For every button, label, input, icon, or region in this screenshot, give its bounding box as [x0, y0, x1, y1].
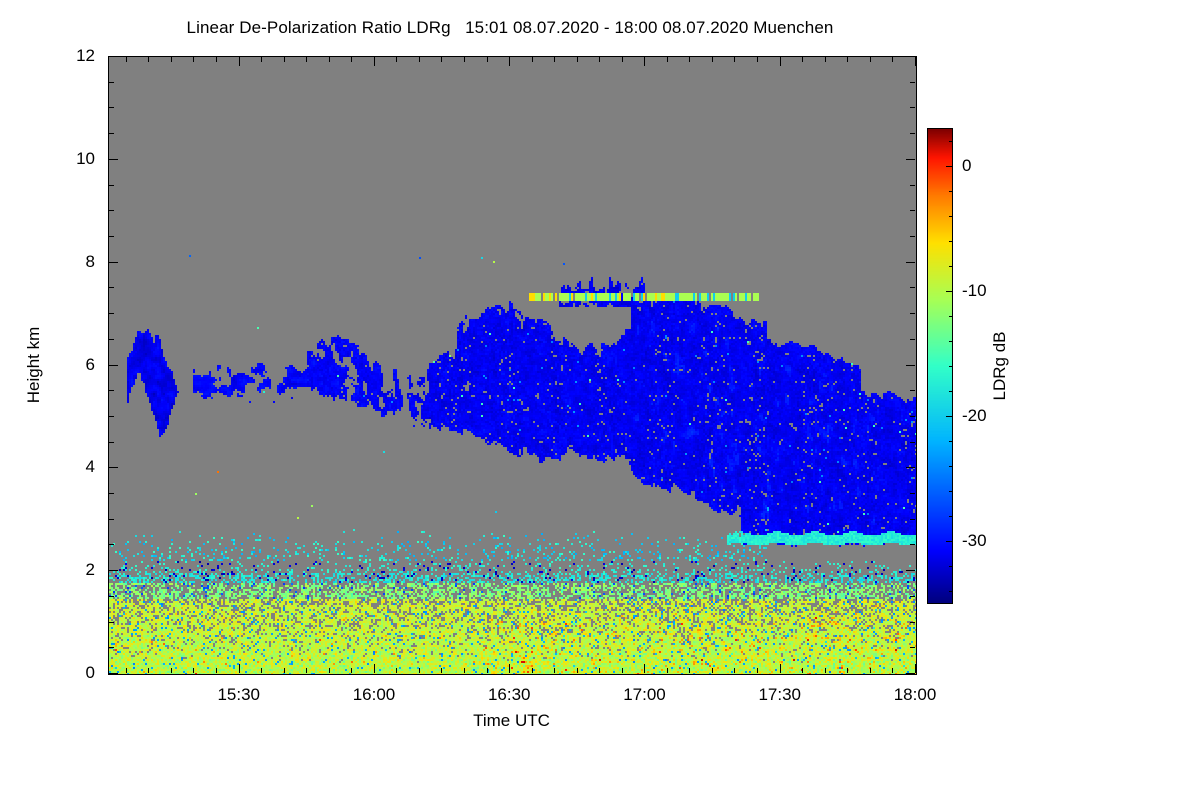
y-tick-major-right — [906, 570, 915, 571]
x-tick-minor — [667, 668, 668, 673]
y-tick-minor-right — [910, 287, 915, 288]
y-tick-minor — [109, 133, 114, 134]
x-tick-minor — [712, 668, 713, 673]
colorbar-tick-minor — [949, 266, 953, 267]
x-tick-major-top — [915, 57, 916, 66]
x-tick-label: 16:30 — [488, 685, 531, 705]
x-tick-minor — [396, 668, 397, 673]
x-tick-minor-top — [171, 57, 172, 62]
x-tick-minor-top — [532, 57, 533, 62]
colorbar-tick-minor — [949, 141, 953, 142]
x-tick-minor — [216, 668, 217, 673]
y-tick-minor — [109, 544, 114, 545]
colorbar-tick-minor — [949, 341, 953, 342]
x-tick-minor — [261, 668, 262, 673]
x-tick-minor-top — [870, 57, 871, 62]
y-tick-major-right — [906, 467, 915, 468]
y-tick-major-right — [906, 56, 915, 57]
y-tick-minor — [109, 339, 114, 340]
colorbar-tick-minor — [949, 391, 953, 392]
x-tick-minor-top — [802, 57, 803, 62]
x-tick-minor-top — [261, 57, 262, 62]
y-tick-minor-right — [910, 107, 915, 108]
x-tick-minor — [126, 668, 127, 673]
x-tick-minor-top — [351, 57, 352, 62]
y-tick-minor-right — [910, 313, 915, 314]
x-tick-major — [644, 664, 645, 673]
x-tick-minor-top — [126, 57, 127, 62]
y-tick-minor — [109, 313, 114, 314]
x-tick-major — [780, 664, 781, 673]
y-tick-minor — [109, 519, 114, 520]
y-tick-major-right — [906, 159, 915, 160]
y-tick-minor-right — [910, 442, 915, 443]
y-tick-minor — [109, 82, 114, 83]
x-tick-minor-top — [667, 57, 668, 62]
x-tick-minor — [329, 668, 330, 673]
y-tick-major-right — [906, 673, 915, 674]
colorbar-tick-label: -20 — [962, 406, 987, 426]
y-tick-minor-right — [910, 647, 915, 648]
colorbar-tick-minor — [949, 491, 953, 492]
colorbar-tick-label: -30 — [962, 531, 987, 551]
x-tick-label: 17:00 — [623, 685, 666, 705]
x-tick-minor — [599, 668, 600, 673]
x-tick-minor — [148, 668, 149, 673]
colorbar-tick-major — [946, 416, 953, 417]
colorbar-tick-minor — [949, 591, 953, 592]
x-tick-minor — [870, 668, 871, 673]
x-tick-major-top — [780, 57, 781, 66]
x-tick-minor — [802, 668, 803, 673]
x-tick-minor-top — [689, 57, 690, 62]
y-tick-minor-right — [910, 210, 915, 211]
x-tick-minor-top — [419, 57, 420, 62]
y-tick-minor — [109, 236, 114, 237]
colorbar-tick-label: -10 — [962, 281, 987, 301]
y-tick-minor — [109, 287, 114, 288]
x-tick-minor-top — [712, 57, 713, 62]
x-tick-minor — [419, 668, 420, 673]
colorbar-tick-minor — [949, 366, 953, 367]
x-tick-minor — [734, 668, 735, 673]
ldr-heatmap — [109, 57, 916, 674]
x-tick-minor — [464, 668, 465, 673]
x-axis-title: Time UTC — [108, 711, 915, 731]
y-tick-major — [109, 570, 118, 571]
y-tick-minor-right — [910, 622, 915, 623]
x-tick-minor — [825, 668, 826, 673]
x-tick-minor-top — [487, 57, 488, 62]
x-tick-label: 18:00 — [894, 685, 937, 705]
y-tick-minor-right — [910, 185, 915, 186]
y-tick-minor — [109, 442, 114, 443]
x-tick-minor — [171, 668, 172, 673]
y-tick-minor — [109, 493, 114, 494]
x-tick-label: 16:00 — [353, 685, 396, 705]
y-tick-minor-right — [910, 544, 915, 545]
y-tick-minor — [109, 622, 114, 623]
x-tick-minor — [689, 668, 690, 673]
colorbar-tick-label: 0 — [962, 156, 971, 176]
colorbar-tick-minor — [949, 466, 953, 467]
x-tick-minor-top — [825, 57, 826, 62]
x-tick-minor-top — [306, 57, 307, 62]
x-tick-minor — [306, 668, 307, 673]
x-tick-minor-top — [734, 57, 735, 62]
x-tick-minor-top — [441, 57, 442, 62]
y-tick-minor — [109, 107, 114, 108]
x-tick-major-top — [374, 57, 375, 66]
x-tick-minor — [193, 668, 194, 673]
x-tick-major-top — [644, 57, 645, 66]
x-tick-minor-top — [193, 57, 194, 62]
y-tick-major — [109, 365, 118, 366]
x-tick-minor-top — [554, 57, 555, 62]
y-tick-minor — [109, 596, 114, 597]
y-tick-major — [109, 467, 118, 468]
x-tick-minor — [441, 668, 442, 673]
y-tick-major-right — [906, 365, 915, 366]
x-tick-major — [374, 664, 375, 673]
y-tick-minor-right — [910, 82, 915, 83]
x-tick-minor-top — [892, 57, 893, 62]
x-tick-minor — [892, 668, 893, 673]
y-tick-minor-right — [910, 519, 915, 520]
radar-plot-area[interactable] — [108, 56, 917, 675]
y-tick-label: 2 — [50, 560, 95, 580]
y-tick-minor — [109, 416, 114, 417]
chart-title: Linear De-Polarization Ratio LDRg 15:01 … — [0, 18, 1020, 38]
x-tick-minor-top — [757, 57, 758, 62]
colorbar-tick-minor — [949, 566, 953, 567]
y-tick-major — [109, 673, 118, 674]
y-tick-major — [109, 262, 118, 263]
x-tick-minor-top — [577, 57, 578, 62]
x-tick-minor — [757, 668, 758, 673]
x-tick-minor — [554, 668, 555, 673]
y-tick-label: 10 — [50, 149, 95, 169]
x-tick-minor — [622, 668, 623, 673]
colorbar-tick-major — [946, 541, 953, 542]
x-tick-minor-top — [329, 57, 330, 62]
colorbar-tick-minor — [949, 516, 953, 517]
x-tick-minor-top — [464, 57, 465, 62]
y-tick-minor-right — [910, 236, 915, 237]
x-tick-major — [915, 664, 916, 673]
x-tick-minor — [532, 668, 533, 673]
colorbar-tick-minor — [949, 316, 953, 317]
colorbar-tick-major — [946, 166, 953, 167]
figure-canvas: Linear De-Polarization Ratio LDRg 15:01 … — [0, 0, 1200, 800]
colorbar-tick-major — [946, 291, 953, 292]
x-tick-minor-top — [148, 57, 149, 62]
y-tick-major-right — [906, 262, 915, 263]
y-tick-label: 8 — [50, 252, 95, 272]
colorbar-tick-minor — [949, 191, 953, 192]
x-tick-major-top — [509, 57, 510, 66]
x-tick-label: 15:30 — [217, 685, 260, 705]
y-tick-minor-right — [910, 133, 915, 134]
y-tick-minor-right — [910, 390, 915, 391]
colorbar-tick-minor — [949, 216, 953, 217]
x-tick-minor-top — [599, 57, 600, 62]
y-axis-title: Height km — [24, 327, 44, 404]
y-tick-label: 6 — [50, 355, 95, 375]
colorbar-title: LDRg dB — [990, 332, 1010, 401]
x-tick-minor-top — [622, 57, 623, 62]
colorbar-tick-minor — [949, 441, 953, 442]
y-tick-label: 0 — [50, 663, 95, 683]
y-tick-minor-right — [910, 596, 915, 597]
x-tick-minor-top — [284, 57, 285, 62]
y-tick-minor-right — [910, 339, 915, 340]
x-tick-major — [509, 664, 510, 673]
x-tick-minor — [847, 668, 848, 673]
y-tick-major — [109, 159, 118, 160]
x-tick-minor — [351, 668, 352, 673]
y-tick-minor — [109, 210, 114, 211]
y-tick-minor — [109, 185, 114, 186]
y-tick-label: 12 — [50, 46, 95, 66]
x-tick-minor — [487, 668, 488, 673]
y-tick-minor-right — [910, 493, 915, 494]
x-tick-major-top — [239, 57, 240, 66]
x-tick-minor-top — [396, 57, 397, 62]
y-tick-minor — [109, 647, 114, 648]
y-tick-major — [109, 56, 118, 57]
y-tick-label: 4 — [50, 457, 95, 477]
colorbar-tick-minor — [949, 241, 953, 242]
x-tick-major — [239, 664, 240, 673]
y-tick-minor-right — [910, 416, 915, 417]
x-tick-minor — [284, 668, 285, 673]
y-tick-minor — [109, 390, 114, 391]
x-tick-minor — [577, 668, 578, 673]
x-tick-label: 17:30 — [758, 685, 801, 705]
x-tick-minor-top — [847, 57, 848, 62]
x-tick-minor-top — [216, 57, 217, 62]
